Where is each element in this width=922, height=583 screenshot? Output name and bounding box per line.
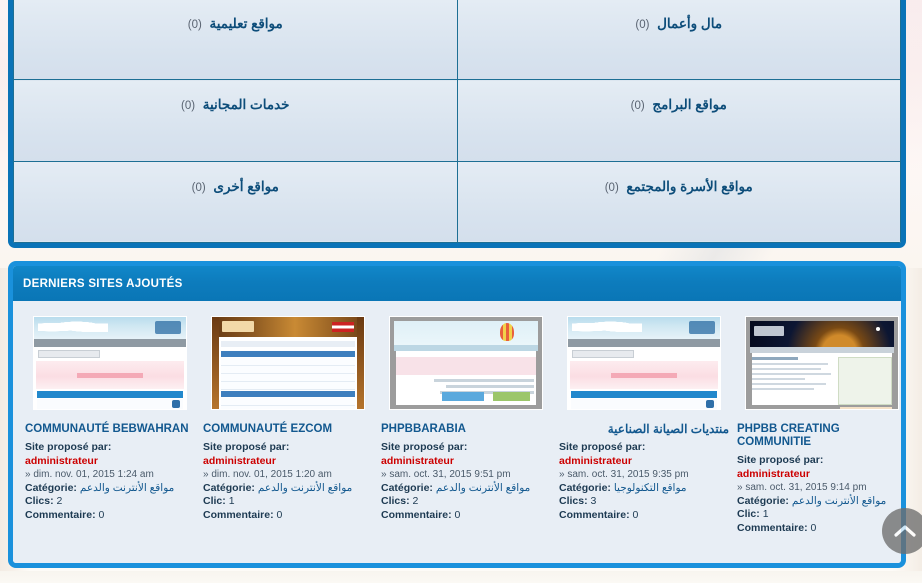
site-thumbnail-wrapper [559,311,729,414]
site-meta: Site proposé par: administrateur » sam. … [559,441,729,522]
category-label: Catégorie: [203,482,255,494]
categories-panel: مواقع تعليمية (0) مال وأعمال (0) خدمات ا… [8,0,906,248]
category-cell[interactable]: مواقع أخرى (0) [14,161,458,242]
comments-label: Commentaire: [203,509,274,521]
site-title-link[interactable]: PHPBB CREATING COMMUNITIE [737,423,906,449]
site-author[interactable]: administrateur [25,455,195,469]
category-link[interactable]: خدمات المجانية [203,97,290,112]
site-category-link[interactable]: مواقع الأنترنت والدعم [258,482,352,494]
site-meta: Site proposé par: administrateur » sam. … [737,454,906,535]
clicks-value: 1 [763,508,769,520]
clicks-label: Clic: [737,508,760,520]
scroll-to-top-button[interactable] [882,508,922,554]
category-count: (0) [635,19,649,31]
comments-value: 0 [455,509,461,521]
site-thumbnail-image[interactable] [211,316,365,410]
category-label: Catégorie: [25,482,77,494]
category-count: (0) [188,19,202,31]
proposed-by-label: Site proposé par: [381,441,551,455]
clicks-label: Clics: [25,495,54,507]
comments-label: Commentaire: [381,509,452,521]
clicks-value: 1 [229,495,235,507]
site-title-link[interactable]: COMMUNAUTÉ EZCOM [203,423,373,436]
site-thumbnail-image[interactable] [745,316,899,410]
site-thumbnail-wrapper [25,311,195,414]
site-category-link[interactable]: مواقع التكنولوجيا [614,482,687,494]
latest-sites-title: DERNIERS SITES AJOUTÉS [23,278,183,290]
category-label: Catégorie: [559,482,611,494]
site-thumbnail-wrapper [737,311,906,414]
site-title-link[interactable]: COMMUNAUTÉ BEBWAHRAN [25,423,195,436]
clicks-value: 2 [413,495,419,507]
category-cell[interactable]: خدمات المجانية (0) [14,80,458,161]
site-date: » dim. nov. 01, 2015 1:24 am [25,468,195,482]
latest-sites-panel: DERNIERS SITES AJOUTÉS [8,261,906,568]
category-label: Catégorie: [381,482,433,494]
comments-label: Commentaire: [559,509,630,521]
proposed-by-label: Site proposé par: [25,441,195,455]
page-bottom-strip [0,571,922,583]
category-cell[interactable]: مال وأعمال (0) [457,0,901,80]
site-category-link[interactable]: مواقع الأنترنت والدعم [792,495,886,507]
latest-sites-body: COMMUNAUTÉ BEBWAHRAN Site proposé par: a… [13,301,901,563]
category-link[interactable]: مواقع تعليمية [209,16,282,31]
clicks-value: 3 [591,495,597,507]
category-link[interactable]: مواقع أخرى [213,179,278,194]
clicks-value: 2 [57,495,63,507]
chevron-up-icon [893,523,917,539]
proposed-by-label: Site proposé par: [559,441,729,455]
site-date: » sam. oct. 31, 2015 9:14 pm [737,481,906,495]
site-meta: Site proposé par: administrateur » dim. … [25,441,195,522]
table-row: مواقع أخرى (0) مواقع الأسرة والمجتمع (0) [14,161,901,242]
site-title-link[interactable]: PHPBBARABIA [381,423,551,436]
comments-value: 0 [277,509,283,521]
clicks-label: Clics: [381,495,410,507]
category-link[interactable]: مواقع البرامج [652,97,726,112]
site-meta: Site proposé par: administrateur » dim. … [203,441,373,522]
latest-sites-header: DERNIERS SITES AJOUTÉS [13,266,901,301]
site-category-link[interactable]: مواقع الأنترنت والدعم [80,482,174,494]
site-title-link[interactable]: منتديات الصيانة الصناعية [559,423,729,436]
proposed-by-label: Site proposé par: [737,454,906,468]
comments-value: 0 [811,522,817,534]
site-author[interactable]: administrateur [737,468,906,482]
category-count: (0) [605,182,619,194]
site-thumbnail-image[interactable] [567,316,721,410]
category-label: Catégorie: [737,495,789,507]
site-thumbnail-wrapper [203,311,373,414]
site-category-link[interactable]: مواقع الأنترنت والدعم [436,482,530,494]
table-row: خدمات المجانية (0) مواقع البرامج (0) [14,80,901,161]
category-count: (0) [631,100,645,112]
category-link[interactable]: مال وأعمال [657,16,722,31]
category-count: (0) [192,182,206,194]
category-cell[interactable]: مواقع الأسرة والمجتمع (0) [457,161,901,242]
site-date: » sam. oct. 31, 2015 9:35 pm [559,468,729,482]
categories-table: مواقع تعليمية (0) مال وأعمال (0) خدمات ا… [13,0,901,243]
site-author[interactable]: administrateur [559,455,729,469]
site-author[interactable]: administrateur [203,455,373,469]
site-thumbnail-image[interactable] [33,316,187,410]
site-card: PHPBBARABIA Site proposé par: administra… [377,311,555,535]
proposed-by-label: Site proposé par: [203,441,373,455]
comments-label: Commentaire: [737,522,808,534]
clicks-label: Clics: [559,495,588,507]
site-card-row: COMMUNAUTÉ BEBWAHRAN Site proposé par: a… [21,311,893,535]
category-count: (0) [181,100,195,112]
category-cell[interactable]: مواقع تعليمية (0) [14,0,458,80]
category-cell[interactable]: مواقع البرامج (0) [457,80,901,161]
site-thumbnail-wrapper [381,311,551,414]
category-link[interactable]: مواقع الأسرة والمجتمع [626,179,752,194]
clicks-label: Clic: [203,495,226,507]
comments-value: 0 [633,509,639,521]
site-thumbnail-image[interactable] [389,316,543,410]
comments-value: 0 [99,509,105,521]
site-author[interactable]: administrateur [381,455,551,469]
site-card: PHPBB CREATING COMMUNITIE Site proposé p… [733,311,906,535]
comments-label: Commentaire: [25,509,96,521]
site-card: COMMUNAUTÉ EZCOM Site proposé par: admin… [199,311,377,535]
site-meta: Site proposé par: administrateur » sam. … [381,441,551,522]
site-card: COMMUNAUTÉ BEBWAHRAN Site proposé par: a… [21,311,199,535]
site-date: » sam. oct. 31, 2015 9:51 pm [381,468,551,482]
site-date: » dim. nov. 01, 2015 1:20 am [203,468,373,482]
table-row: مواقع تعليمية (0) مال وأعمال (0) [14,0,901,80]
site-card: منتديات الصيانة الصناعية Site proposé pa… [555,311,733,535]
